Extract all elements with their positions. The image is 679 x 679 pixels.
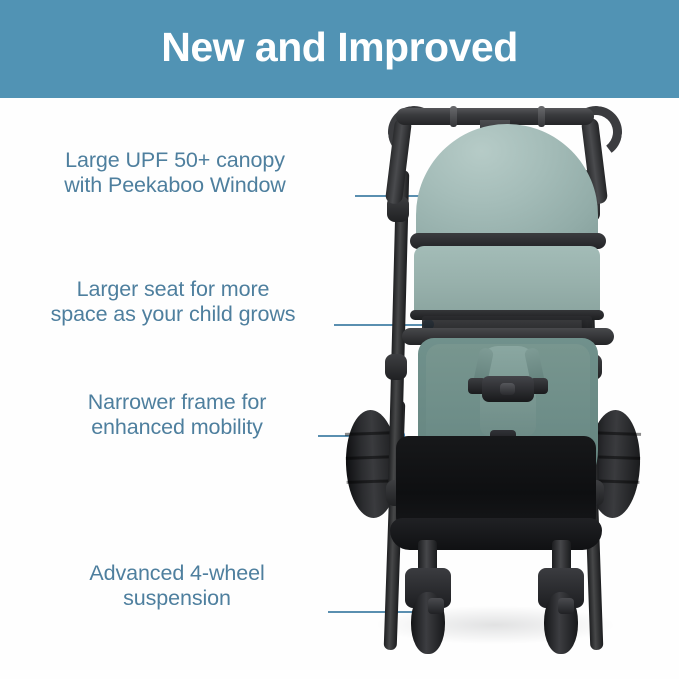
ground-shadow (370, 605, 620, 645)
callout-suspension-line1: Advanced 4-wheel (12, 561, 342, 586)
callout-canopy-line2: with Peekaboo Window (10, 173, 340, 198)
callout-seat: Larger seat for more space as your child… (8, 277, 338, 327)
callout-canopy: Large UPF 50+ canopy with Peekaboo Windo… (10, 148, 340, 198)
callout-suspension-line2: suspension (12, 586, 342, 611)
frame-joint-mid-left (385, 354, 407, 380)
handlebar-ring-right (538, 106, 545, 127)
callout-suspension: Advanced 4-wheel suspension (12, 561, 342, 611)
stroller-illustration (330, 100, 660, 670)
infographic-page: New and Improved Large UPF 50+ canopy wi… (0, 0, 679, 679)
callout-canopy-line1: Large UPF 50+ canopy (10, 148, 340, 173)
callout-frame-line2: enhanced mobility (12, 415, 342, 440)
suspension-right (558, 598, 574, 614)
callout-seat-line2: space as your child grows (8, 302, 338, 327)
canopy (416, 124, 598, 248)
callout-frame: Narrower frame for enhanced mobility (12, 390, 342, 440)
suspension-left (428, 598, 444, 614)
callout-seat-line1: Larger seat for more (8, 277, 338, 302)
canopy-panel-lower (414, 246, 600, 316)
header-band: New and Improved (0, 0, 679, 98)
page-title: New and Improved (161, 27, 518, 72)
callout-frame-line1: Narrower frame for (12, 390, 342, 415)
handlebar-ring-left (450, 106, 457, 127)
harness-buckle-button (500, 383, 515, 395)
